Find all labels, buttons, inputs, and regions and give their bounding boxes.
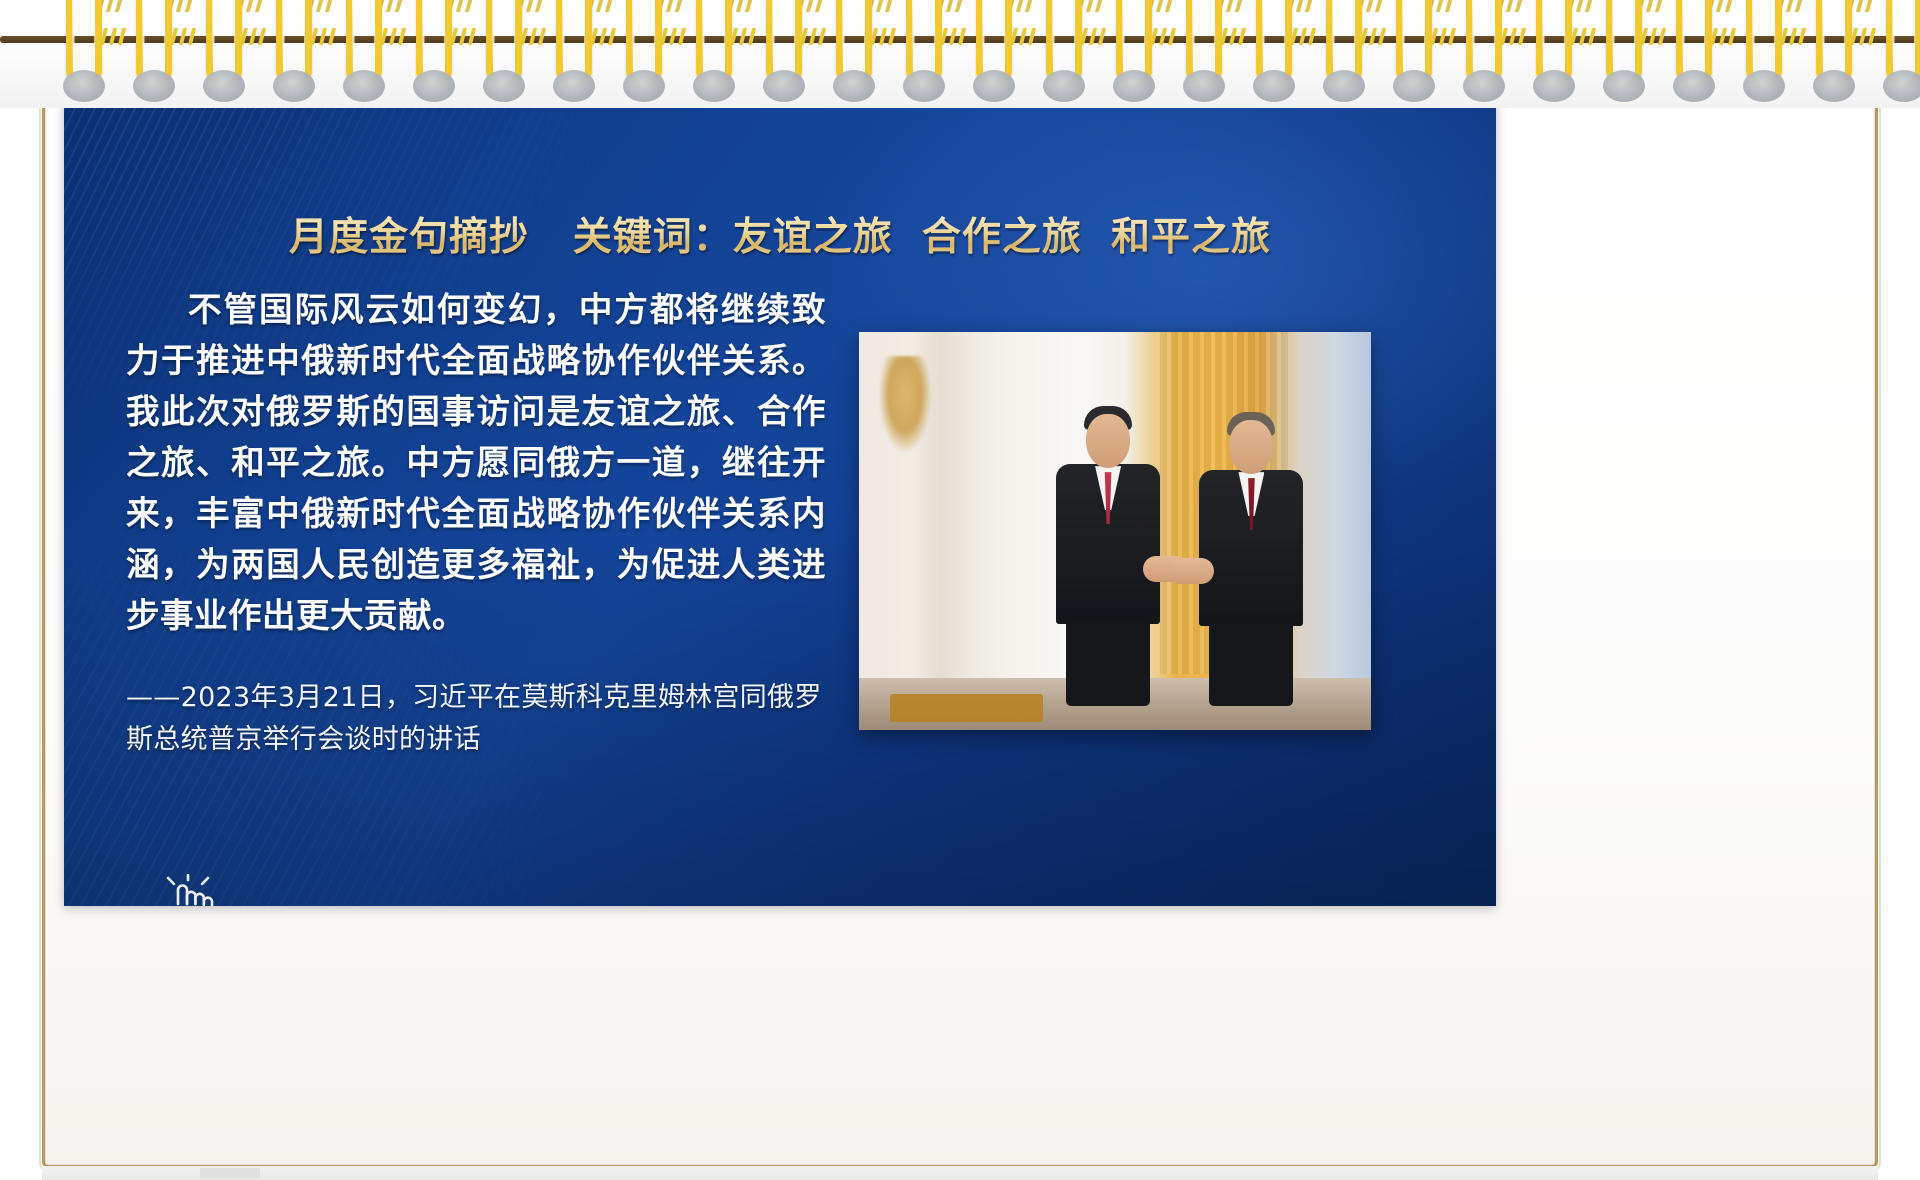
masthead: 中南海月刊: [64, 114, 1496, 204]
binding-ring-highlight: [1500, 28, 1530, 45]
binding-ring-highlight: [660, 28, 690, 45]
binding-ring-shadow: [1323, 70, 1365, 102]
binding-ring-shadow: [343, 70, 385, 102]
binding-ring-highlight: [1360, 28, 1390, 45]
binding-ring-highlight: [1150, 28, 1180, 45]
binding-ring: [1108, 0, 1162, 96]
binding-ring: [128, 0, 182, 96]
monthly-bulletin-slide[interactable]: 中南海月刊 月度金句摘抄 关键词：友谊之旅 合作之旅 和平之旅 不管国际风云如何…: [64, 88, 1496, 906]
binding-ring: [338, 0, 392, 96]
binding-ring-shadow: [1533, 70, 1575, 102]
binding-ring-highlight: [1710, 28, 1740, 45]
binding-ring-shadow: [693, 70, 735, 102]
binding-ring-highlight: [1010, 28, 1040, 45]
binding-ring: [758, 0, 812, 96]
binding-ring-shadow: [763, 70, 805, 102]
binding-ring-highlight: [590, 28, 620, 45]
binding-ring-shadow: [1113, 70, 1155, 102]
binding-ring: [1738, 0, 1792, 96]
figure-head: [1229, 420, 1273, 474]
binding-ring: [968, 0, 1022, 96]
binding-ring: [548, 0, 602, 96]
binding-ring-highlight-top: [168, 0, 202, 12]
binding-ring-highlight-top: [1778, 0, 1812, 12]
binding-ring-highlight-top: [798, 0, 832, 12]
binding-ring-highlight-top: [98, 0, 132, 12]
binding-ring-shadow: [1673, 70, 1715, 102]
binding-ring: [898, 0, 952, 96]
binding-ring-shadow: [1463, 70, 1505, 102]
binding-ring-highlight-top: [378, 0, 412, 12]
binding-ring: [1178, 0, 1232, 96]
taskbar-hint: [200, 1168, 260, 1178]
binding-ring-highlight: [1850, 28, 1880, 45]
binding-ring: [1808, 0, 1862, 96]
photo-xi-putin-handshake[interactable]: [859, 332, 1371, 730]
binding-ring-highlight-top: [518, 0, 552, 12]
binding-ring-highlight-top: [448, 0, 482, 12]
binding-ring: [1248, 0, 1302, 96]
binding-ring-highlight-top: [1708, 0, 1742, 12]
binding-ring: [1878, 0, 1920, 96]
figure-legs: [1066, 620, 1150, 706]
binding-ring-highlight-top: [308, 0, 342, 12]
binding-ring-highlight: [380, 28, 410, 45]
binding-ring: [688, 0, 742, 96]
binding-ring-highlight-top: [938, 0, 972, 12]
binding-ring-highlight: [800, 28, 830, 45]
binding-ring-highlight: [940, 28, 970, 45]
binding-ring-shadow: [1393, 70, 1435, 102]
binding-ring: [408, 0, 462, 96]
binding-ring-shadow: [273, 70, 315, 102]
binding-ring-highlight-top: [1498, 0, 1532, 12]
figure-head: [1086, 414, 1130, 468]
binding-ring: [1598, 0, 1652, 96]
binding-ring-highlight-top: [1428, 0, 1462, 12]
binding-ring-shadow: [623, 70, 665, 102]
subtitle-keywords: 月度金句摘抄 关键词：友谊之旅 合作之旅 和平之旅: [64, 206, 1496, 262]
binding-ring-shadow: [1183, 70, 1225, 102]
figure-legs: [1209, 622, 1293, 706]
binding-ring-highlight-top: [728, 0, 762, 12]
binding-ring-shadow: [1813, 70, 1855, 102]
binding-ring-highlight-top: [1358, 0, 1392, 12]
binding-ring-highlight: [520, 28, 550, 45]
binding-ring: [1038, 0, 1092, 96]
binding-ring-highlight: [730, 28, 760, 45]
binding-ring-highlight: [1430, 28, 1460, 45]
binding-ring-highlight: [100, 28, 130, 45]
quote-column: 不管国际风云如何变幻，中方都将继续致力于推进中俄新时代全面战略协作伙伴关系。我此…: [126, 284, 826, 761]
page-bottom-edge: [42, 1166, 1878, 1180]
binding-ring-highlight-top: [1638, 0, 1672, 12]
binding-ring-shadow: [903, 70, 945, 102]
binding-ring-highlight-top: [1078, 0, 1112, 12]
binding-ring-shadow: [413, 70, 455, 102]
photo-gilded-ornament: [879, 356, 931, 452]
binding-ring-highlight-top: [588, 0, 622, 12]
binding-ring-highlight: [1290, 28, 1320, 45]
binding-ring: [268, 0, 322, 96]
binding-ring-highlight: [1780, 28, 1810, 45]
masthead-title: 中南海月刊: [620, 114, 940, 204]
binding-ring-shadow: [133, 70, 175, 102]
binding-ring-shadow: [1043, 70, 1085, 102]
binding-ring-highlight: [870, 28, 900, 45]
binding-ring: [1388, 0, 1442, 96]
binding-ring: [1668, 0, 1722, 96]
binding-ring-shadow: [203, 70, 245, 102]
binding-ring: [198, 0, 252, 96]
binding-ring: [1318, 0, 1372, 96]
binding-ring-highlight-top: [1008, 0, 1042, 12]
binding-ring-highlight-top: [1288, 0, 1322, 12]
binding-ring: [478, 0, 532, 96]
binding-ring-highlight: [310, 28, 340, 45]
binding-ring-shadow: [1603, 70, 1645, 102]
binding-ring: [828, 0, 882, 96]
binding-ring-highlight-top: [1218, 0, 1252, 12]
binding-ring-shadow: [1883, 70, 1920, 102]
photo-figure-right: [1176, 410, 1326, 706]
binding-ring-highlight: [170, 28, 200, 45]
binding-ring-highlight-top: [1148, 0, 1182, 12]
binding-ring: [618, 0, 672, 96]
binding-ring-shadow: [553, 70, 595, 102]
binding-ring-shadow: [63, 70, 105, 102]
binding-ring-shadow: [483, 70, 525, 102]
binding-ring-highlight: [1080, 28, 1110, 45]
binding-ring-shadow: [1743, 70, 1785, 102]
binding-rings: [0, 0, 1920, 108]
binding-ring-highlight: [1220, 28, 1250, 45]
binding-ring-highlight-top: [868, 0, 902, 12]
binding-ring-highlight-top: [238, 0, 272, 12]
photo-figure-left: [1033, 406, 1183, 706]
binding-ring-shadow: [833, 70, 875, 102]
binding-ring-shadow: [1253, 70, 1295, 102]
binding-ring-shadow: [973, 70, 1015, 102]
binding-ring-highlight: [1570, 28, 1600, 45]
screen: 中南海月刊 月度金句摘抄 关键词：友谊之旅 合作之旅 和平之旅 不管国际风云如何…: [0, 0, 1920, 1180]
binding-ring-highlight: [240, 28, 270, 45]
binding-ring: [1458, 0, 1512, 96]
quote-attribution: ——2023年3月21日，习近平在莫斯科克里姆林宫同俄罗斯总统普京举行会谈时的讲…: [126, 677, 826, 761]
binding-ring-highlight-top: [658, 0, 692, 12]
binding-ring: [58, 0, 112, 96]
photo-carpet: [890, 694, 1044, 722]
quote-body-text: 不管国际风云如何变幻，中方都将继续致力于推进中俄新时代全面战略协作伙伴关系。我此…: [126, 284, 826, 641]
binding-ring-highlight: [450, 28, 480, 45]
figure-handshake-hand: [1168, 558, 1214, 584]
touch-pointer-icon[interactable]: [164, 874, 220, 906]
binding-ring-highlight-top: [1848, 0, 1882, 12]
binding-ring: [1528, 0, 1582, 96]
binding-ring-highlight-top: [1568, 0, 1602, 12]
binding-ring-highlight: [1640, 28, 1670, 45]
spiral-binding: [0, 0, 1920, 108]
